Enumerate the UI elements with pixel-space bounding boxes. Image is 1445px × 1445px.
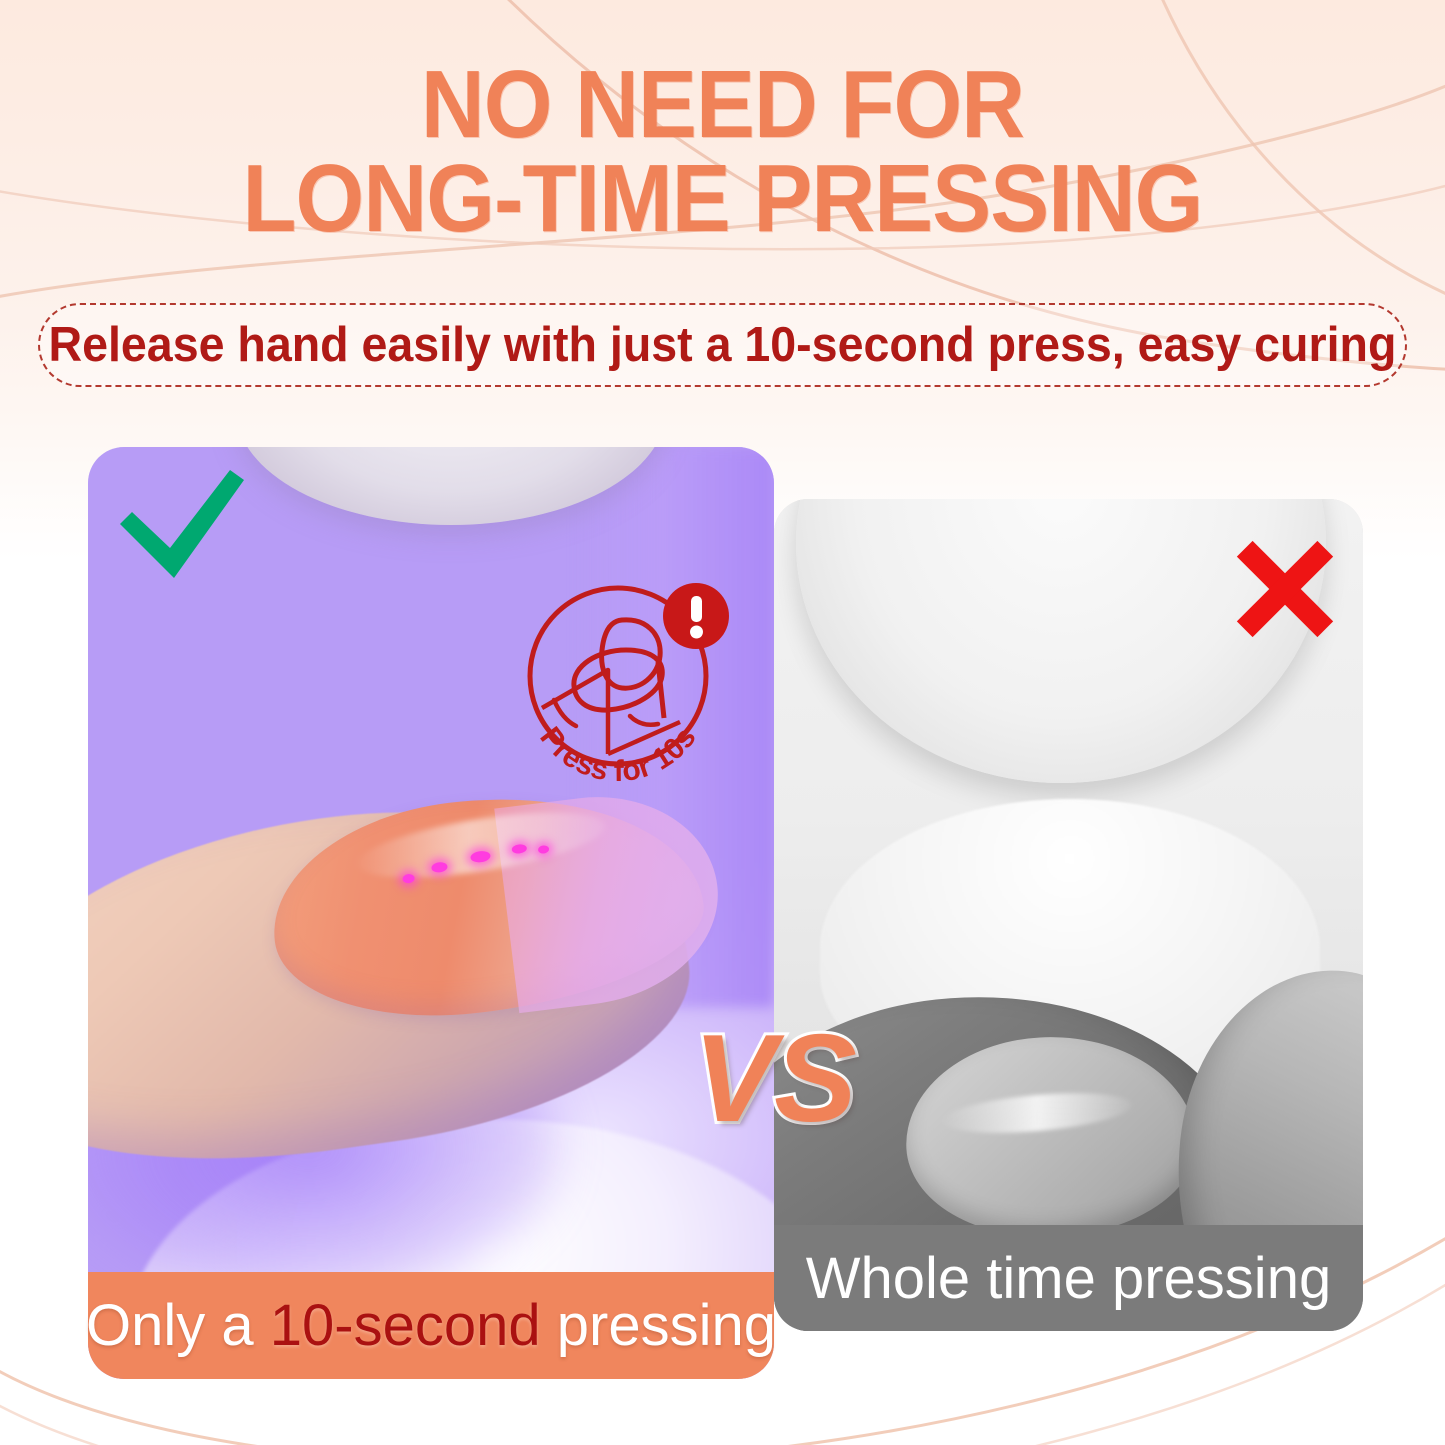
page-title: NO NEED FOR LONG-TIME PRESSING: [58, 58, 1387, 246]
subtitle-banner: Release hand easily with just a 10-secon…: [38, 303, 1407, 387]
vs-divider: VS: [664, 1004, 884, 1154]
caption-left-highlight: 10-second: [270, 1293, 541, 1358]
caption-left-prefix: Only a: [86, 1293, 270, 1358]
green-check-icon: [112, 464, 252, 584]
caption-right-text: Whole time pressing: [806, 1245, 1331, 1312]
product-infographic: NO NEED FOR LONG-TIME PRESSING Release h…: [0, 0, 1445, 1445]
caption-bar-positive: Only a 10-second pressing: [88, 1272, 774, 1379]
press-badge-label: Press for 10s: [533, 721, 702, 788]
red-cross-icon: [1232, 536, 1338, 642]
svg-text:Press for 10s: Press for 10s: [533, 721, 702, 788]
caption-left-text: Only a 10-second pressing: [86, 1292, 776, 1359]
vs-label: VS: [693, 1017, 854, 1141]
caption-bar-negative: Whole time pressing: [774, 1225, 1363, 1331]
press-for-10s-badge: Press for 10s: [512, 558, 742, 820]
subtitle-text: Release hand easily with just a 10-secon…: [49, 317, 1397, 373]
caption-left-suffix: pressing: [541, 1293, 776, 1358]
